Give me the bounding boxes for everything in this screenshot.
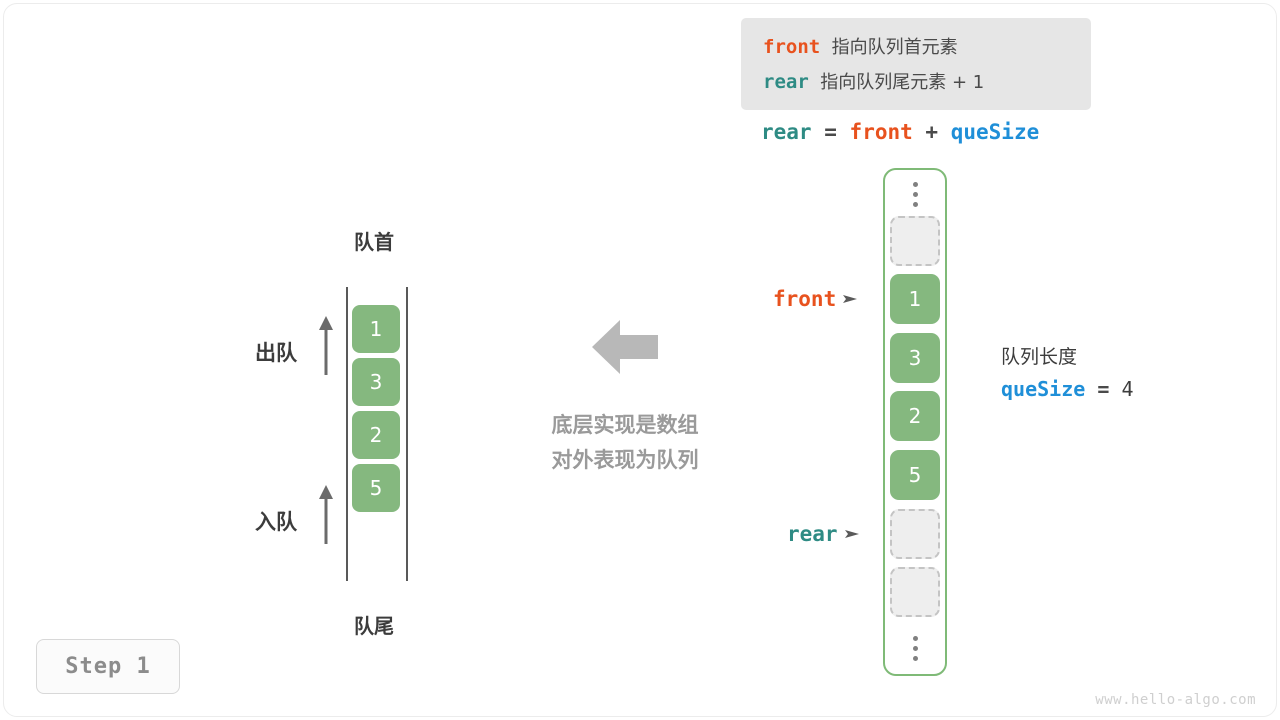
center-caption: 底层实现是数组 对外表现为队列 (505, 408, 745, 478)
pointer-arrow-right-icon (843, 292, 859, 306)
array-slot-empty (890, 567, 940, 617)
queue-cell: 5 (352, 464, 400, 512)
queue-head-label: 队首 (308, 226, 440, 255)
queue-cell: 2 (352, 411, 400, 459)
queue-size-expression: queSize = 4 (1001, 372, 1133, 406)
array-slot-filled: 3 (890, 333, 940, 383)
center-caption-line1: 底层实现是数组 (505, 408, 745, 443)
array-top-ellipsis-icon (890, 176, 940, 212)
enqueue-label: 入队 (255, 506, 297, 536)
pointer-front-label: front (773, 287, 836, 311)
pointer-rear: rear (787, 522, 861, 546)
pointer-legend-box: front 指向队列首元素 rear 指向队列尾元素 + 1 (741, 18, 1091, 110)
formula-front: front (850, 120, 913, 144)
formula-quesize: queSize (951, 120, 1040, 144)
formula-rear: rear (761, 120, 812, 144)
queue-size-title: 队列长度 (1001, 342, 1133, 372)
rear-formula: rear = front + queSize (761, 120, 1039, 144)
queue-rail-right (406, 287, 408, 581)
formula-plus: + (925, 120, 938, 144)
step-badge: Step 1 (36, 639, 180, 694)
pointer-rear-label: rear (787, 522, 838, 546)
array-slot-empty (890, 509, 940, 559)
queue-rail-left (346, 287, 348, 581)
queue-tail-label: 队尾 (308, 610, 440, 639)
quesize-var: queSize (1001, 377, 1085, 401)
queue-cell: 3 (352, 358, 400, 406)
dequeue-arrow-up-icon (314, 315, 338, 377)
legend-row-rear: rear 指向队列尾元素 + 1 (763, 65, 1091, 100)
center-caption-line2: 对外表现为队列 (505, 443, 745, 478)
array-slot-filled: 5 (890, 450, 940, 500)
queue-cell: 1 (352, 305, 400, 353)
array-bottom-ellipsis-icon (890, 630, 940, 666)
legend-row-front: front 指向队列首元素 (763, 30, 1091, 65)
enqueue-arrow-up-icon (314, 484, 338, 546)
formula-equals: = (824, 120, 837, 144)
queue-size-note: 队列长度 queSize = 4 (1001, 342, 1133, 406)
legend-text-front: 指向队列首元素 (832, 37, 958, 58)
legend-keyword-front: front (763, 36, 820, 58)
quesize-value: 4 (1121, 377, 1133, 401)
legend-keyword-rear: rear (763, 71, 809, 93)
diagram-canvas: front 指向队列首元素 rear 指向队列尾元素 + 1 rear = fr… (0, 0, 1280, 720)
array-slot-filled: 1 (890, 274, 940, 324)
quesize-equals: = (1097, 377, 1109, 401)
legend-text-rear: 指向队列尾元素 + 1 (820, 72, 984, 93)
array-slot-empty (890, 216, 940, 266)
pointer-arrow-right-icon (845, 527, 861, 541)
array-slot-filled: 2 (890, 391, 940, 441)
pointer-front: front (773, 287, 859, 311)
dequeue-label: 出队 (255, 337, 297, 367)
watermark: www.hello-algo.com (1095, 692, 1256, 708)
arrow-left-icon (592, 318, 658, 376)
